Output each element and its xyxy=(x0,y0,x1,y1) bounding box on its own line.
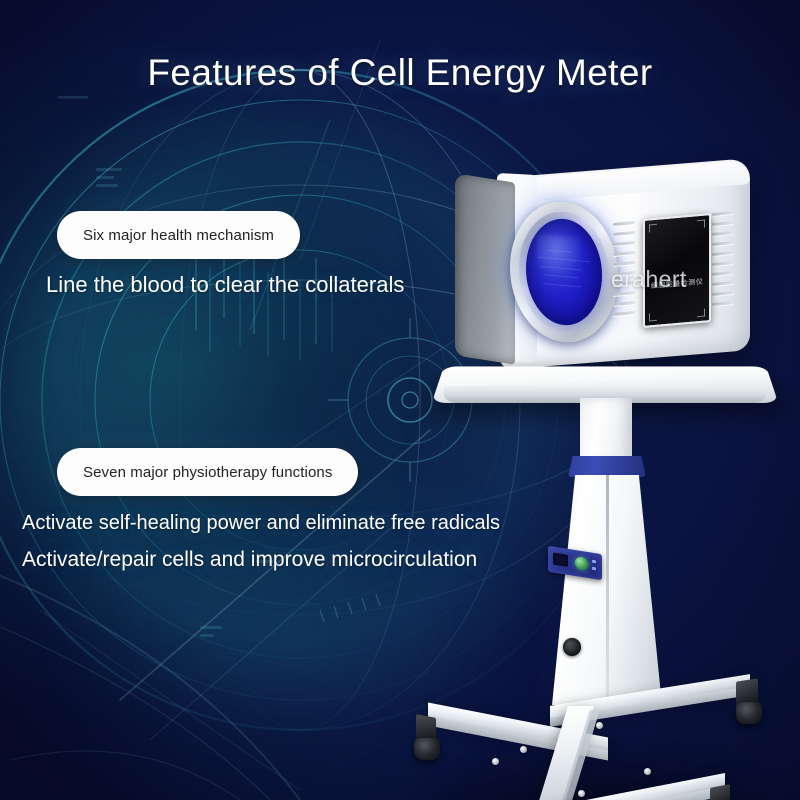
machine-head-unit: 细胞能量检测仪 erahert xyxy=(455,170,755,385)
base-screw xyxy=(520,746,527,753)
plaque-corner-bracket-icon xyxy=(649,313,657,322)
cart-upper-post xyxy=(580,398,632,464)
base-screw xyxy=(596,722,603,729)
cart-column-seam xyxy=(606,475,609,703)
machine-front-face-plate xyxy=(455,173,515,365)
caster-wheel-rear-right xyxy=(736,702,762,724)
status-led-icon xyxy=(592,560,596,564)
emitter-inner-ring xyxy=(519,208,609,336)
cart-blue-accent-collar xyxy=(568,456,646,477)
product-photo-cell-energy-meter: 细胞能量检测仪 erahert xyxy=(400,150,800,800)
vent-slots-left xyxy=(613,221,635,323)
base-screw xyxy=(578,790,585,797)
cable-port-knob[interactable] xyxy=(563,638,581,656)
plaque-chinese-label: 细胞能量检测仪 xyxy=(645,276,709,292)
feature-line-1: Line the blood to clear the collaterals xyxy=(46,272,404,298)
caster-wheel-left xyxy=(414,738,440,760)
control-panel-display xyxy=(553,553,568,567)
pill-badge-six-major-health-mechanism[interactable]: Six major health mechanism xyxy=(57,211,300,259)
status-led-icon xyxy=(592,567,596,571)
pill-badge-label: Seven major physiotherapy functions xyxy=(83,464,332,481)
pill-badge-seven-major-physiotherapy-functions[interactable]: Seven major physiotherapy functions xyxy=(57,448,358,496)
base-screw xyxy=(644,768,651,775)
plaque-corner-bracket-icon xyxy=(697,309,705,318)
product-nameplate-plaque: 细胞能量检测仪 xyxy=(643,213,711,328)
page-title: Features of Cell Energy Meter xyxy=(0,52,800,94)
plaque-corner-bracket-icon xyxy=(697,220,705,229)
vent-slots-right xyxy=(712,211,734,313)
product-feature-poster: Features of Cell Energy Meter Six major … xyxy=(0,0,800,800)
blue-emitter-screen xyxy=(526,216,602,329)
pill-badge-label: Six major health mechanism xyxy=(83,227,274,244)
plaque-corner-bracket-icon xyxy=(649,224,657,233)
power-indicator-icon xyxy=(575,556,588,571)
base-endcap-right xyxy=(710,784,730,800)
base-screw xyxy=(492,758,499,765)
